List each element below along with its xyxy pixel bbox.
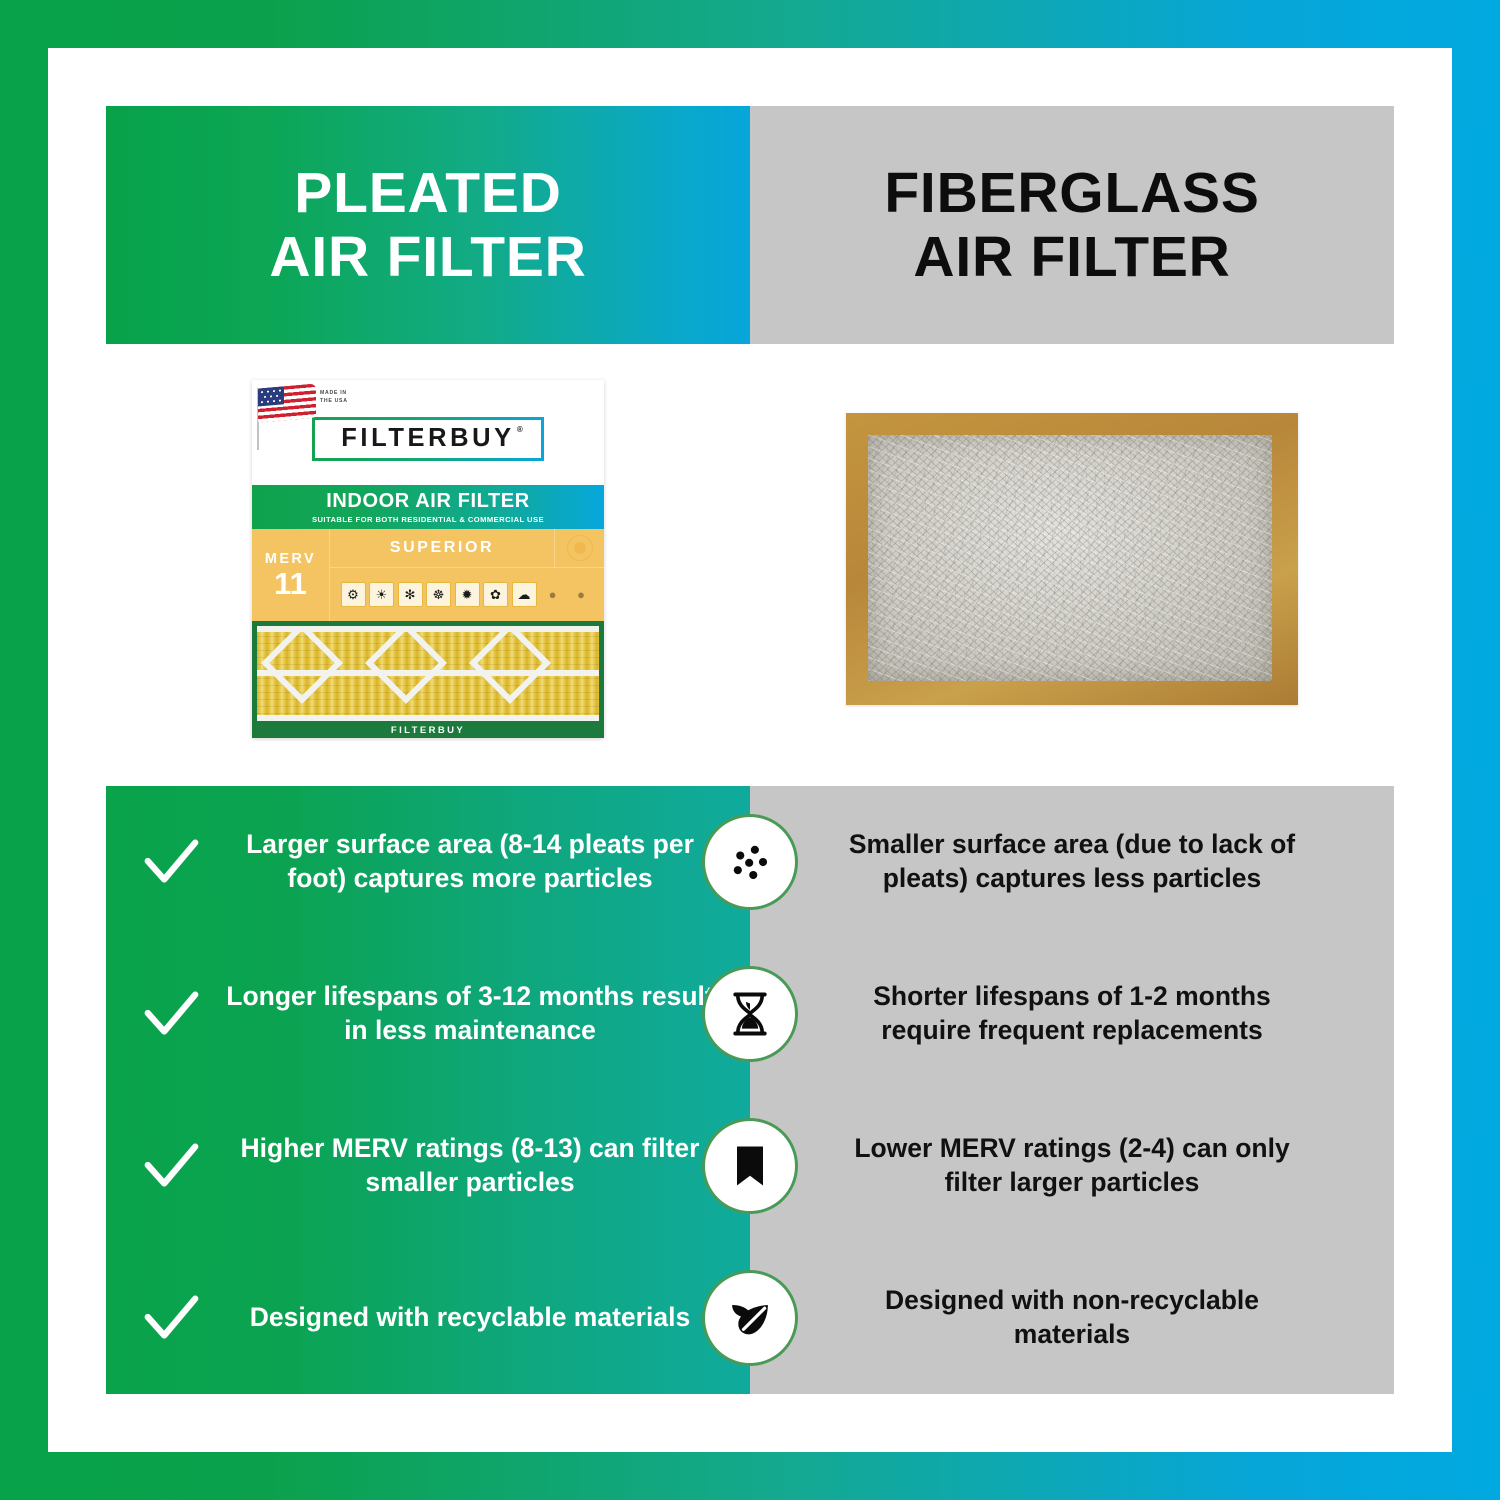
voc-icon: ● [569, 582, 594, 607]
brand-word: FILTERBUY [341, 424, 515, 452]
pleated-benefit-text: Higher MERV ratings (8-13) can filter sm… [224, 1132, 716, 1200]
merv-value: 11 [274, 568, 307, 599]
odor-glyph: ● [549, 588, 557, 601]
header-pleated-line1: PLEATED [294, 161, 561, 225]
comparison-row: Longer lifespans of 3-12 months result i… [106, 938, 1394, 1090]
made-in-line1: MADE IN [320, 390, 347, 396]
header-pleated-title: PLEATED AIR FILTER [269, 161, 586, 290]
fiberglass-drawback-text: Lower MERV ratings (2-4) can only filter… [837, 1132, 1307, 1200]
fiberglass-drawback-cell: Lower MERV ratings (2-4) can only filter… [750, 1090, 1394, 1242]
box-top-section: MADE IN THE USA FILTERBUY® [252, 380, 604, 485]
check-icon [140, 831, 202, 893]
smoke-icon: ☁ [512, 582, 537, 607]
header-fiberglass-title: FIBERGLASS AIR FILTER [884, 161, 1259, 290]
dust-glyph: ⚙ [347, 588, 359, 601]
header-fiberglass-line2: AIR FILTER [913, 225, 1230, 289]
support-bar-top [257, 626, 599, 632]
bacteria-icon: ☸ [426, 582, 451, 607]
pleated-benefit-text: Longer lifespans of 3-12 months result i… [224, 980, 716, 1048]
comparison-table: Larger surface area (8-14 pleats per foo… [106, 786, 1394, 1394]
infographic-frame: PLEATED AIR FILTER FIBERGLASS AIR FILTER [0, 0, 1500, 1500]
infographic-canvas: PLEATED AIR FILTER FIBERGLASS AIR FILTER [48, 48, 1452, 1452]
fiberglass-drawback-text: Smaller surface area (due to lack of ple… [837, 828, 1307, 896]
made-in-line2: THE USA [320, 398, 348, 404]
filtration-icon-row: ⚙ ☀ ✻ ☸ ✹ ✿ ☁ ● ● [330, 568, 604, 621]
box-footer-brand: FILTERBUY [252, 725, 604, 736]
box-band-title: INDOOR AIR FILTER [326, 490, 530, 513]
fiberglass-drawback-text: Shorter lifespans of 1-2 months require … [837, 980, 1307, 1048]
pleated-benefit-cell: Longer lifespans of 3-12 months result i… [106, 938, 750, 1090]
virus-glyph: ✹ [462, 588, 473, 601]
trademark-symbol: ® [517, 425, 523, 434]
comparison-row: Designed with recyclable materials Desig… [106, 1242, 1394, 1394]
particles-icon [702, 814, 798, 910]
fiberglass-filter-image [846, 413, 1298, 705]
voc-glyph: ● [577, 588, 585, 601]
box-band-subtitle: SUITABLE FOR BOTH RESIDENTIAL & COMMERCI… [312, 515, 544, 524]
pollen-glyph: ☀ [376, 588, 388, 601]
infographic-content: PLEATED AIR FILTER FIBERGLASS AIR FILTER [106, 106, 1394, 1390]
certification-cell [554, 529, 604, 567]
support-diamond [469, 626, 551, 704]
fiberglass-drawback-text: Designed with non-recyclable materials [837, 1284, 1307, 1352]
fiberglass-mesh-texture [868, 435, 1272, 681]
header-pleated-line2: AIR FILTER [269, 225, 586, 289]
filterbuy-box-image: MADE IN THE USA FILTERBUY® INDOOR AIR FI… [252, 380, 604, 738]
pleated-benefit-cell: Higher MERV ratings (8-13) can filter sm… [106, 1090, 750, 1242]
box-merv-section: MERV 11 SUPERIOR [252, 529, 604, 621]
support-bar-middle [257, 670, 599, 676]
header-fiberglass-line1: FIBERGLASS [884, 161, 1259, 225]
header-pleated: PLEATED AIR FILTER [106, 106, 750, 344]
pet-dander-icon: ✿ [483, 582, 508, 607]
smoke-glyph: ☁ [518, 588, 531, 601]
made-in-usa-label: MADE IN THE USA [320, 390, 348, 406]
check-icon [140, 1135, 202, 1197]
pollen-icon: ☀ [369, 582, 394, 607]
bacteria-glyph: ☸ [433, 588, 445, 601]
odor-icon: ● [540, 582, 565, 607]
check-icon [140, 983, 202, 1045]
pet-glyph: ✿ [490, 588, 501, 601]
fiberglass-drawback-cell: Designed with non-recyclable materials [750, 1242, 1394, 1394]
support-diamond [261, 626, 343, 704]
support-diamond [365, 626, 447, 704]
filterbuy-logo-text: FILTERBUY® [341, 424, 515, 453]
merv-label: MERV [265, 551, 316, 567]
filterbuy-logo: FILTERBUY® [312, 417, 544, 461]
box-pleated-media-section: FILTERBUY [252, 621, 604, 738]
box-indoor-band: INDOOR AIR FILTER SUITABLE FOR BOTH RESI… [252, 485, 604, 529]
support-bar-bottom [257, 715, 599, 721]
pleated-benefit-cell: Larger surface area (8-14 pleats per foo… [106, 786, 750, 938]
comparison-row: Higher MERV ratings (8-13) can filter sm… [106, 1090, 1394, 1242]
comparison-row: Larger surface area (8-14 pleats per foo… [106, 786, 1394, 938]
hourglass-icon [702, 966, 798, 1062]
dust-icon: ⚙ [341, 582, 366, 607]
header-fiberglass: FIBERGLASS AIR FILTER [750, 106, 1394, 344]
pleated-media-texture [257, 626, 599, 721]
certification-seal-icon [567, 535, 593, 561]
fiberglass-product-cell [750, 344, 1394, 774]
merv-badge: MERV 11 [252, 529, 330, 621]
pleated-product-cell: MADE IN THE USA FILTERBUY® INDOOR AIR FI… [106, 344, 750, 774]
tier-row: SUPERIOR [330, 529, 604, 568]
check-icon [140, 1287, 202, 1349]
virus-icon: ✹ [455, 582, 480, 607]
header-band: PLEATED AIR FILTER FIBERGLASS AIR FILTER [106, 106, 1394, 344]
mold-spore-icon: ✻ [398, 582, 423, 607]
bookmark-icon [702, 1118, 798, 1214]
mold-glyph: ✻ [405, 588, 416, 601]
fiberglass-drawback-cell: Smaller surface area (due to lack of ple… [750, 786, 1394, 938]
usa-flag-icon [258, 383, 316, 422]
tier-label: SUPERIOR [330, 539, 554, 557]
pleated-benefit-cell: Designed with recyclable materials [106, 1242, 750, 1394]
leaf-icon [702, 1270, 798, 1366]
fiberglass-drawback-cell: Shorter lifespans of 1-2 months require … [750, 938, 1394, 1090]
pleated-benefit-text: Larger surface area (8-14 pleats per foo… [224, 828, 716, 896]
product-image-strip: MADE IN THE USA FILTERBUY® INDOOR AIR FI… [106, 344, 1394, 774]
pleated-benefit-text: Designed with recyclable materials [224, 1301, 716, 1335]
box-tier-section: SUPERIOR ⚙ ☀ ✻ ☸ [330, 529, 604, 621]
